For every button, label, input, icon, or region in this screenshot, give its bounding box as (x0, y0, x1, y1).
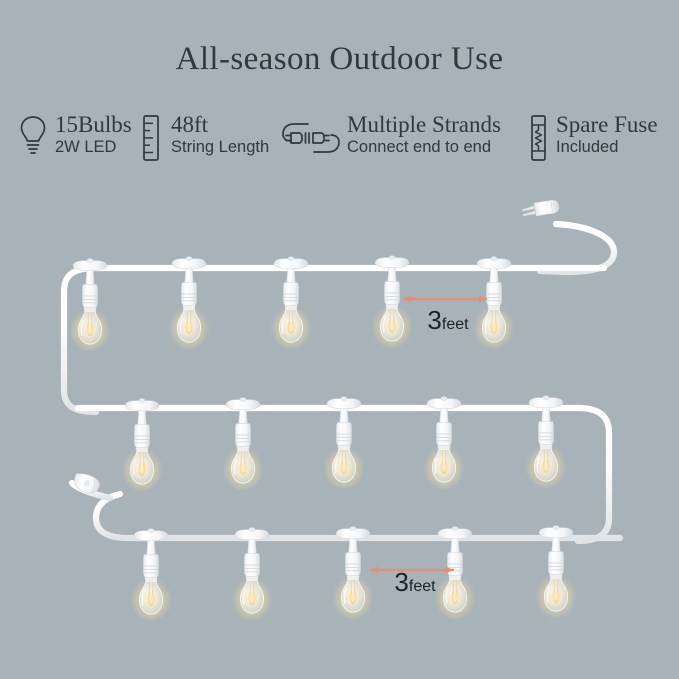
dimension-unit-2: feet (409, 578, 436, 595)
dimension-label-2: 3feet (355, 553, 475, 599)
bulb (121, 399, 163, 492)
bulb (130, 529, 172, 622)
dimension-value-2: 3 (394, 567, 408, 597)
light-strand-cord (64, 224, 620, 541)
male-plug-icon (521, 199, 560, 218)
dimension-unit-1: feet (442, 316, 469, 333)
bulb (222, 398, 264, 491)
product-infographic: All-season Outdoor Use 15Bulbs 2W LED (0, 0, 679, 679)
string-light-illustration (0, 0, 679, 679)
dimension-value-1: 3 (427, 305, 441, 335)
dimension-label-1: 3feet (388, 291, 508, 337)
bulb (231, 528, 273, 621)
